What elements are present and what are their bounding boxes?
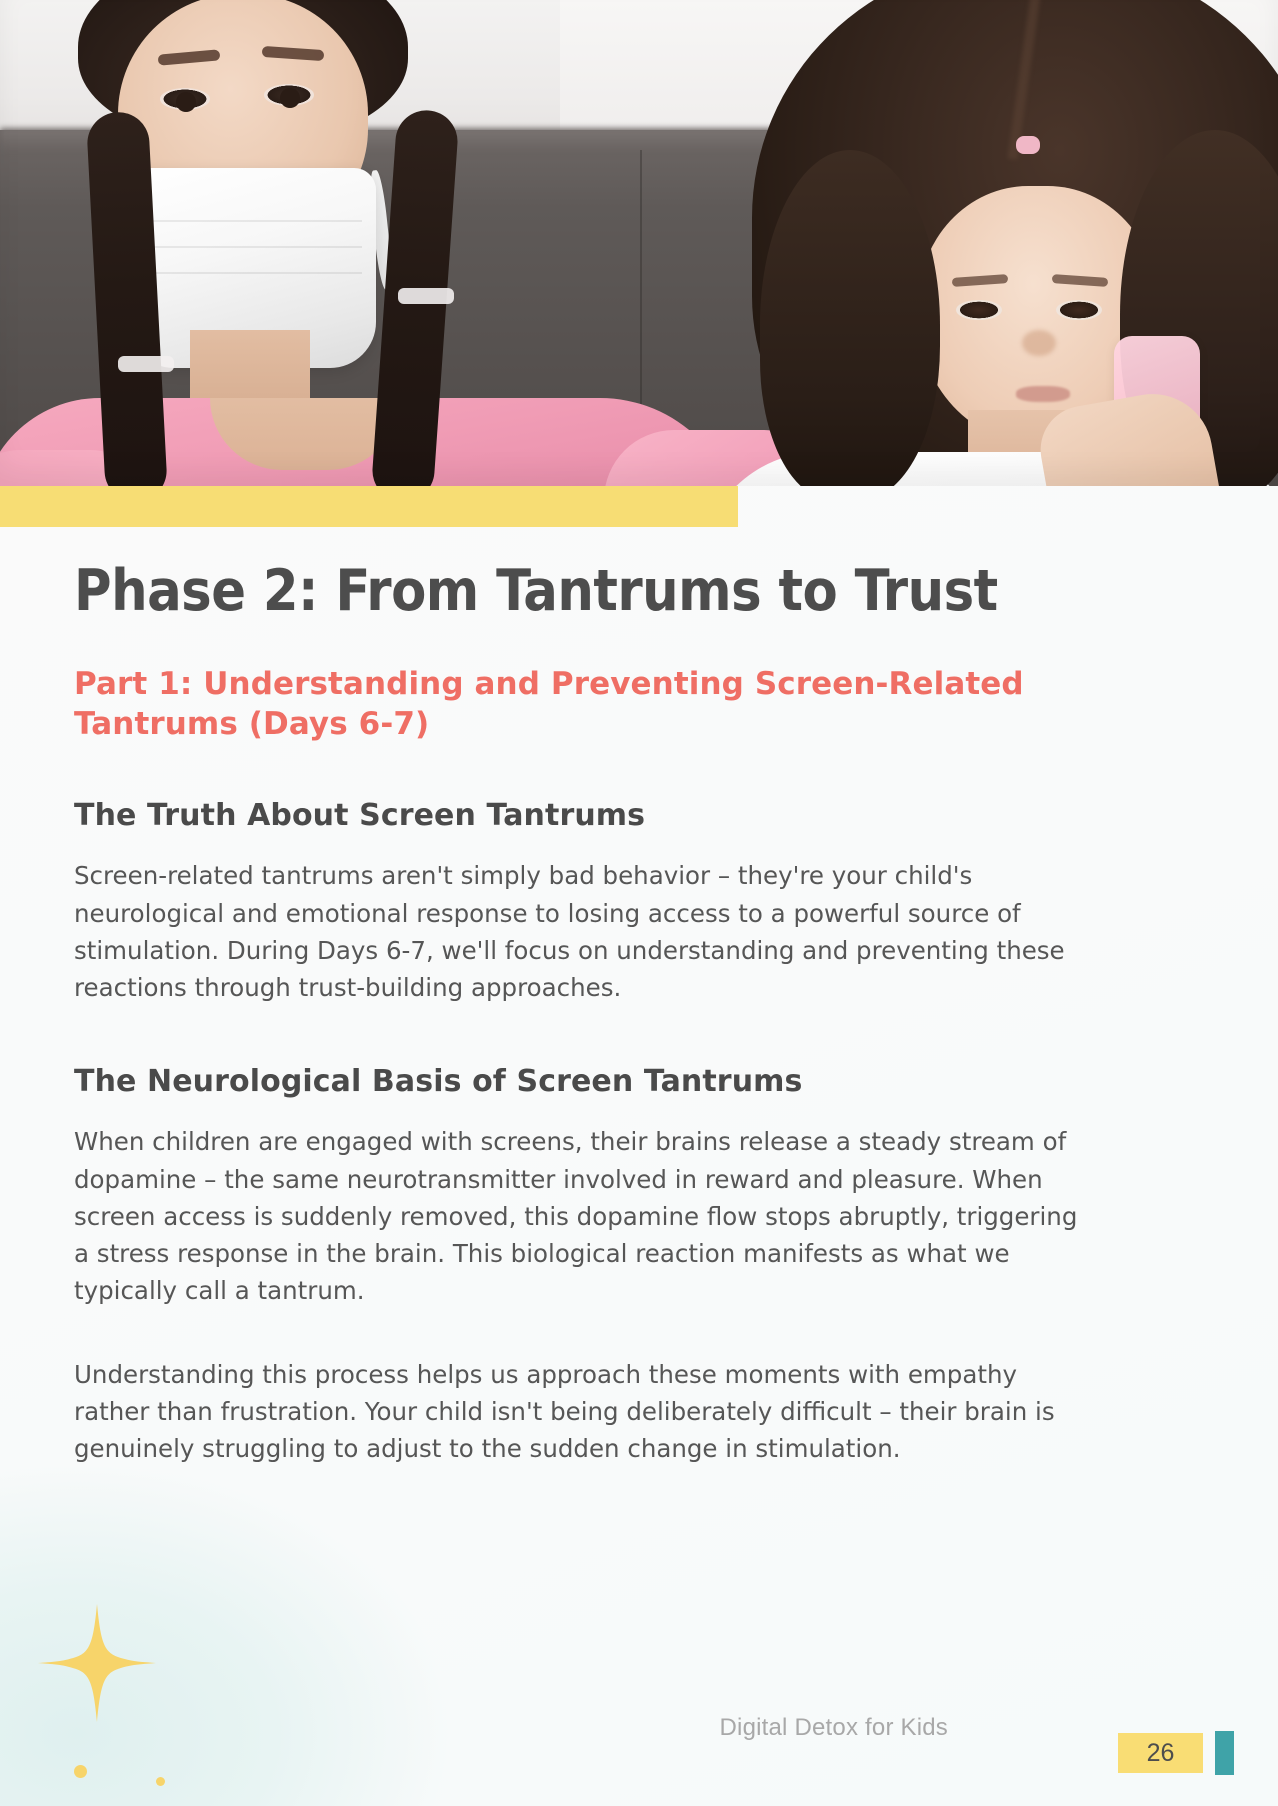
book-title-label: Digital Detox for Kids <box>720 1714 949 1742</box>
section-paragraph: Understanding this process helps us appr… <box>74 1356 1084 1468</box>
section-heading-1: The Truth About Screen Tantrums <box>74 796 1170 835</box>
page-footer: Digital Detox for Kids <box>0 1700 1278 1760</box>
page-title: Phase 2: From Tantrums to Trust <box>74 560 1170 624</box>
decorative-dot <box>74 1765 87 1778</box>
page-subtitle: Part 1: Understanding and Preventing Scr… <box>74 664 1074 745</box>
content-area: Phase 2: From Tantrums to Trust Part 1: … <box>74 560 1170 1467</box>
section-heading-2: The Neurological Basis of Screen Tantrum… <box>74 1062 1170 1101</box>
page: Phase 2: From Tantrums to Trust Part 1: … <box>0 0 1278 1806</box>
hero-photo <box>0 0 1278 486</box>
page-number-badge: 26 <box>1118 1733 1203 1773</box>
teal-accent-bar <box>1215 1731 1234 1775</box>
photo-vignette <box>0 0 1278 486</box>
section-paragraph: When children are engaged with screens, … <box>74 1123 1084 1309</box>
yellow-accent-bar <box>0 486 738 527</box>
decorative-dot <box>156 1777 165 1786</box>
section-paragraph: Screen-related tantrums aren't simply ba… <box>74 857 1084 1006</box>
